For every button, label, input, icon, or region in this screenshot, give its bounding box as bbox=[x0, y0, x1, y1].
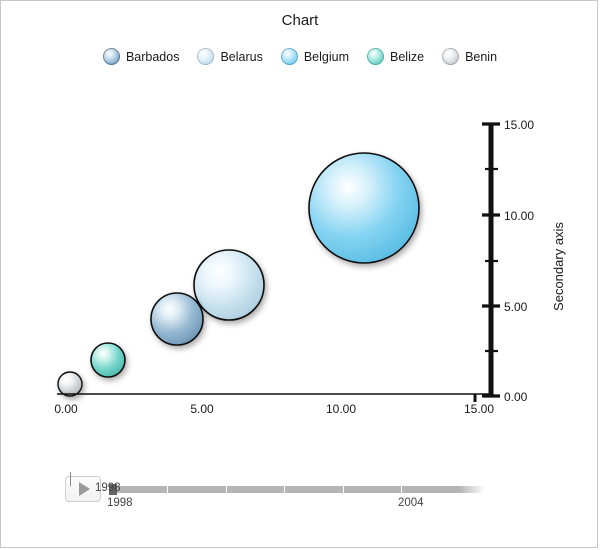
bubble-barbados[interactable] bbox=[151, 293, 203, 345]
time-slider[interactable]: 1998 1998 2004 bbox=[65, 459, 485, 515]
play-icon bbox=[79, 482, 90, 496]
slider-current-value: 1998 bbox=[95, 482, 121, 494]
legend-label: Belarus bbox=[220, 50, 262, 64]
x-tick-label: 15.00 bbox=[464, 402, 494, 416]
slider-range-end: 2004 bbox=[398, 497, 424, 509]
bubble-belgium[interactable] bbox=[309, 153, 419, 263]
bubble-belize[interactable] bbox=[91, 343, 125, 377]
legend-label: Belize bbox=[390, 50, 424, 64]
slider-track-fade bbox=[459, 486, 485, 493]
bubble-benin[interactable] bbox=[58, 372, 82, 396]
chart-container: Chart Barbados Belarus Belgium Belize Be… bbox=[0, 0, 598, 548]
legend-label: Benin bbox=[465, 50, 497, 64]
bubble-series-benin bbox=[58, 372, 82, 396]
legend-label: Belgium bbox=[304, 50, 349, 64]
slider-tick-separator bbox=[401, 486, 402, 493]
bubble-marker-icon bbox=[281, 48, 298, 65]
legend-item-belgium[interactable]: Belgium bbox=[281, 48, 349, 65]
slider-tick-separator bbox=[167, 486, 168, 493]
x-tick-label: 0.00 bbox=[54, 402, 78, 416]
bubble-series-belgium bbox=[309, 153, 419, 263]
x-tick-label: 5.00 bbox=[190, 402, 214, 416]
secondary-tick-label: 15.00 bbox=[504, 118, 534, 132]
secondary-tick-label: 0.00 bbox=[504, 390, 528, 404]
secondary-tick-label: 5.00 bbox=[504, 300, 528, 314]
legend-item-belarus[interactable]: Belarus bbox=[197, 48, 262, 65]
slider-track[interactable] bbox=[109, 486, 485, 493]
bubble-marker-icon bbox=[197, 48, 214, 65]
bubble-series-belize bbox=[91, 343, 125, 377]
x-tick-label: 10.00 bbox=[326, 402, 356, 416]
bubble-marker-icon bbox=[367, 48, 384, 65]
secondary-tick-label: 10.00 bbox=[504, 209, 534, 223]
plot-svg: 0.00 5.00 10.00 15.00 15.00 10.00 5.00 0… bbox=[1, 91, 599, 421]
slider-tick-separator bbox=[343, 486, 344, 493]
plot-area: 0.00 5.00 10.00 15.00 15.00 10.00 5.00 0… bbox=[1, 91, 599, 421]
chart-title: Chart bbox=[1, 12, 599, 29]
chart-legend: Barbados Belarus Belgium Belize Benin bbox=[1, 48, 599, 65]
slider-range-start: 1998 bbox=[107, 497, 133, 509]
legend-item-belize[interactable]: Belize bbox=[367, 48, 424, 65]
legend-label: Barbados bbox=[126, 50, 180, 64]
legend-item-benin[interactable]: Benin bbox=[442, 48, 497, 65]
legend-item-barbados[interactable]: Barbados bbox=[103, 48, 180, 65]
bubble-series-belarus bbox=[194, 250, 264, 320]
slider-tick-separator bbox=[226, 486, 227, 493]
slider-handle-stem bbox=[70, 472, 71, 486]
secondary-axis-title-text: Secondary axis bbox=[551, 222, 566, 311]
slider-handle[interactable]: 1998 bbox=[109, 484, 117, 495]
bubble-series-barbados bbox=[151, 293, 203, 345]
bubble-belarus[interactable] bbox=[194, 250, 264, 320]
secondary-axis-title: Secondary axis bbox=[547, 171, 569, 361]
slider-tick-separator bbox=[284, 486, 285, 493]
bubble-marker-icon bbox=[442, 48, 459, 65]
bubble-marker-icon bbox=[103, 48, 120, 65]
